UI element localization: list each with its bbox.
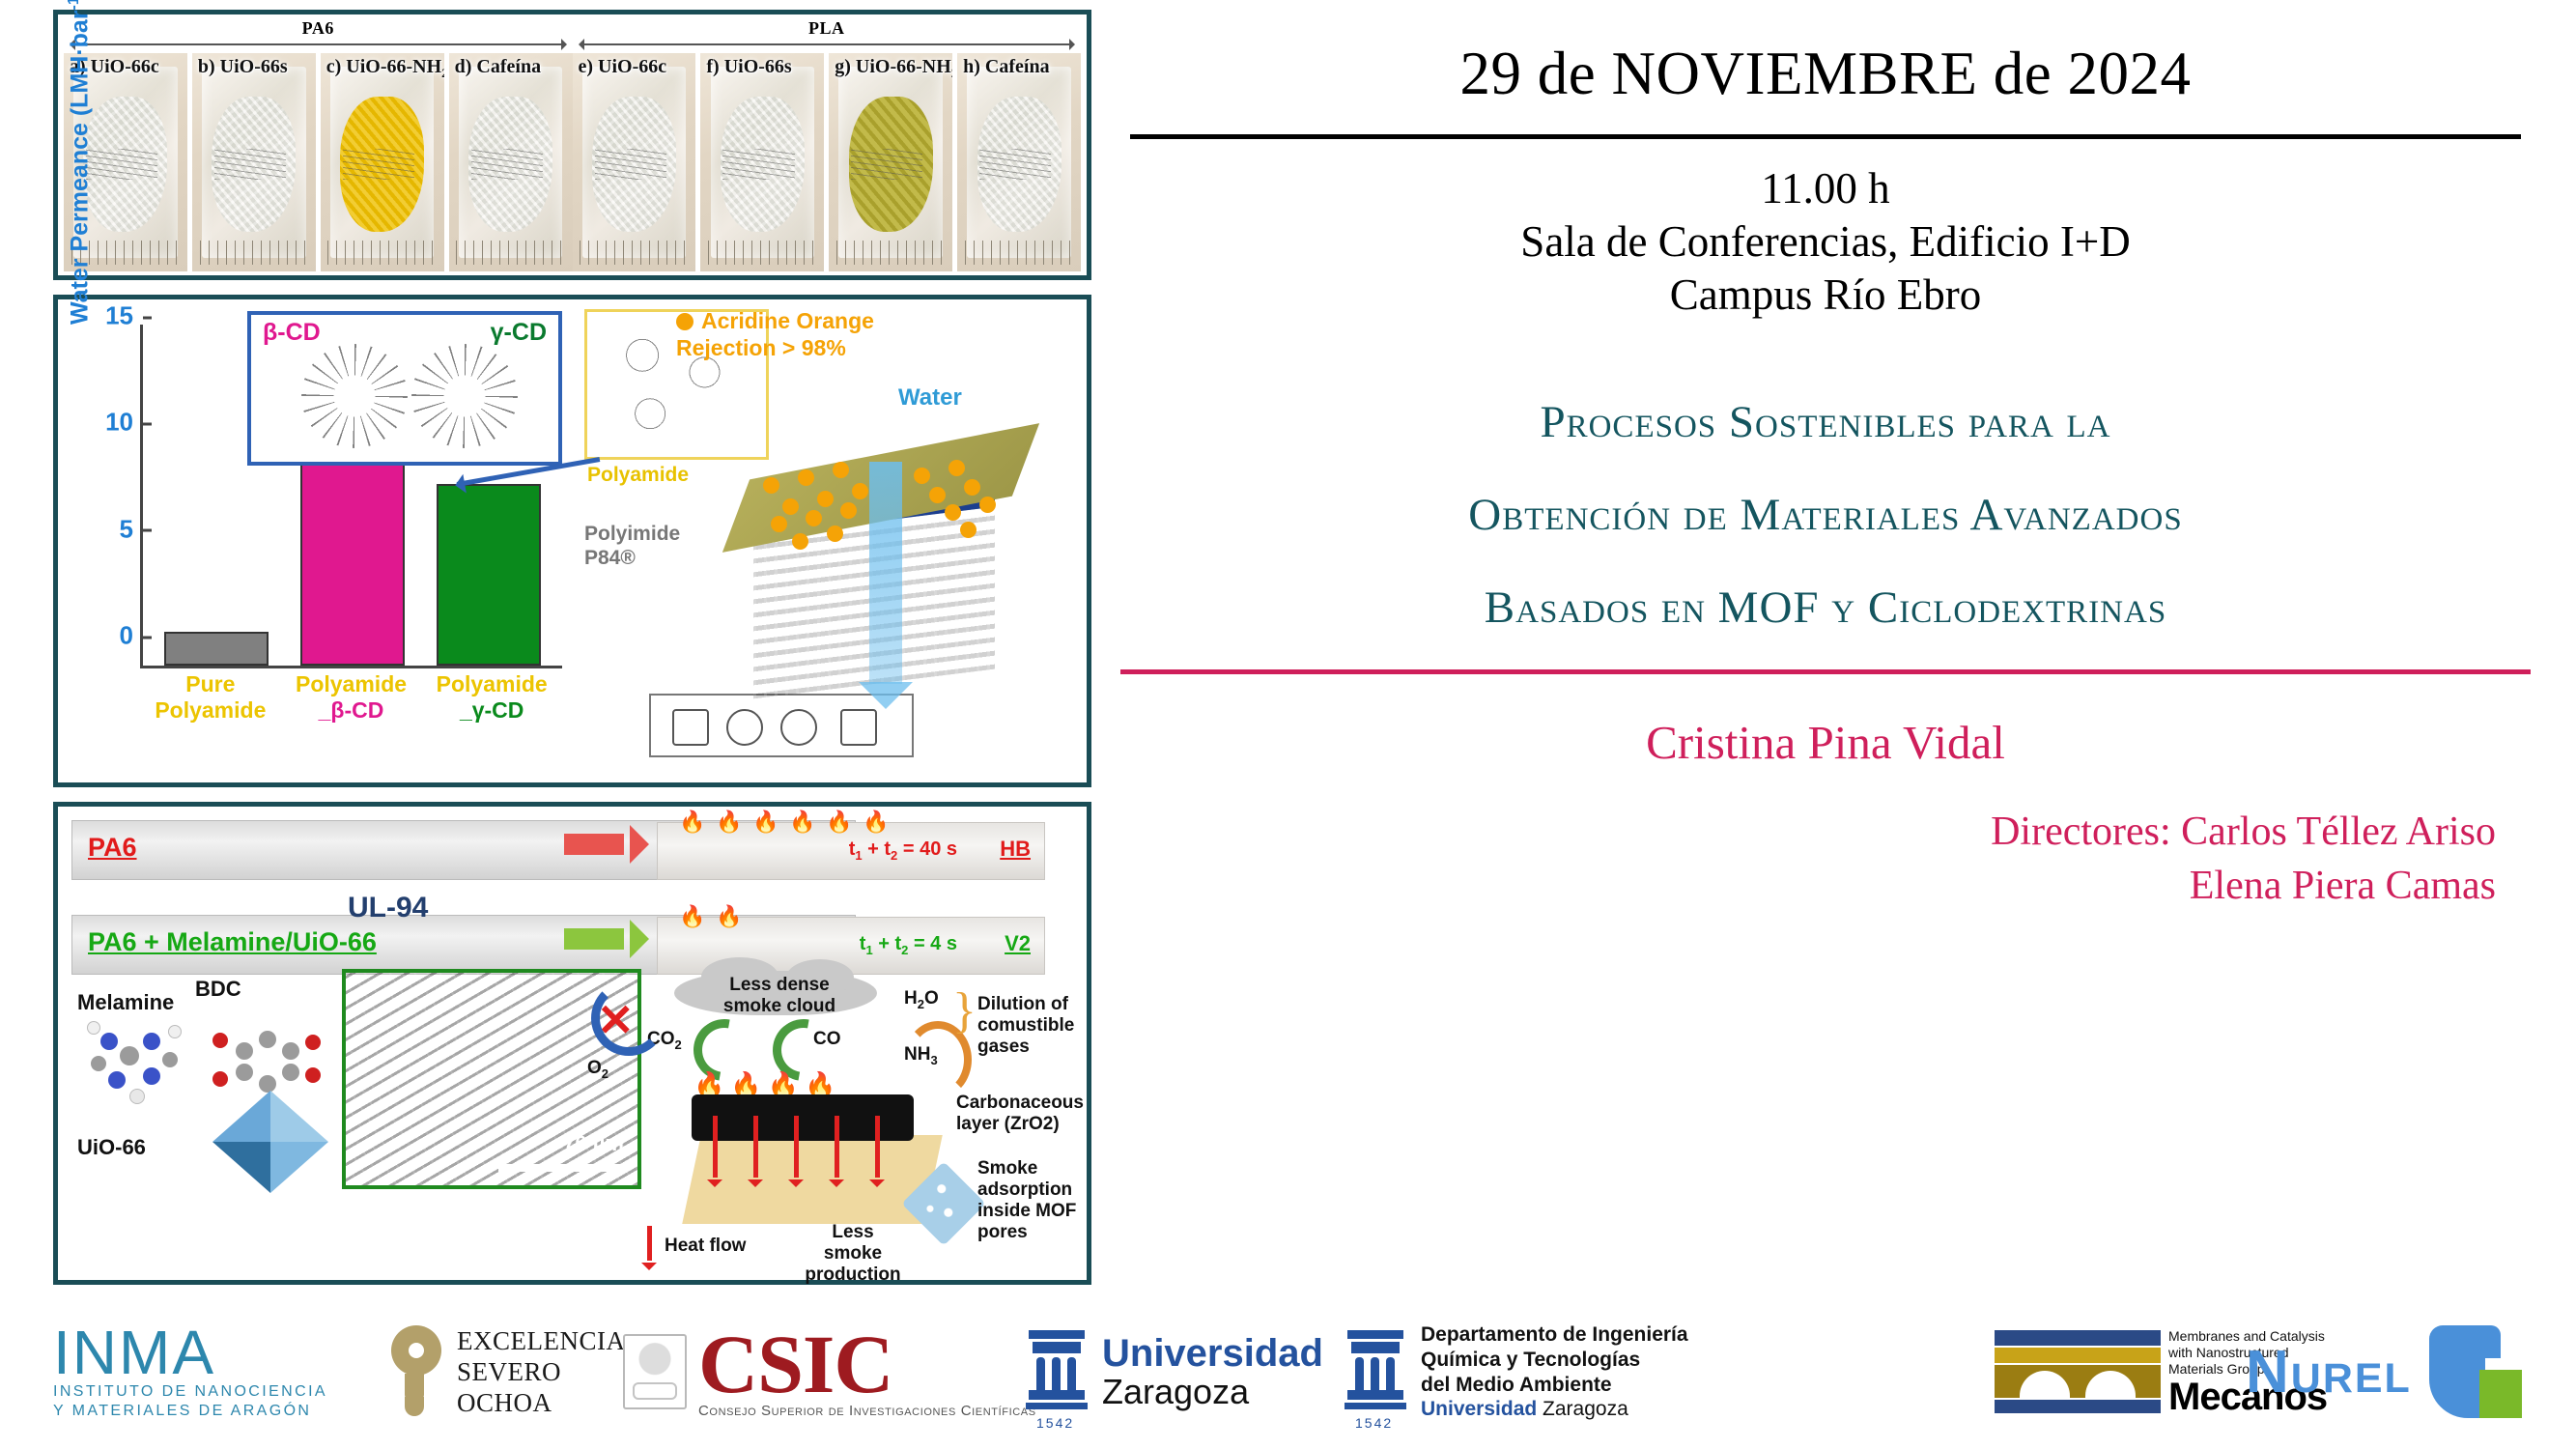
- sample-photo-label: e) UiO-66c: [579, 56, 667, 78]
- sample-photo: e) UiO-66c: [573, 53, 696, 271]
- smoke-cloud-label: Less densesmoke cloud: [697, 975, 862, 1017]
- y-tick: 5: [120, 514, 143, 544]
- scale-bar-icon: [498, 1164, 624, 1172]
- bar-pure-polyamide: [164, 632, 269, 666]
- departamento-university: Universidad Zaragoza: [1421, 1398, 1688, 1421]
- thesis-title-line2: Obtención de Materiales Avanzados: [1120, 469, 2531, 561]
- combustion-mechanism-diagram: Less densesmoke cloud CO2 CO ✕ O2 H2O NH…: [637, 969, 1091, 1278]
- membrane-3d-diagram: [724, 444, 1043, 734]
- thesis-title-line1: Procesos Sostenibles para la: [1120, 376, 2531, 469]
- panel-samples: PA6 a) UiO-66c b) UiO-66s: [53, 10, 1091, 280]
- nh3-label: NH3: [904, 1044, 938, 1071]
- logo-nurel: Nurel: [2246, 1299, 2522, 1444]
- bdc-molecule-icon: [203, 1017, 328, 1094]
- sample-photo-label: f) UiO-66s: [706, 56, 791, 78]
- orange-dot-icon: [676, 313, 694, 330]
- y-axis-label: Water Permeance (LMH·bar-1): [66, 6, 95, 325]
- departamento-line1: Departamento de Ingeniería: [1421, 1322, 1688, 1348]
- x-axis-labels: Pure Polyamide Polyamide _β-CD Polyamide…: [140, 671, 562, 763]
- polyamide-label: Polyamide: [587, 464, 689, 487]
- sample-group-title: PLA: [573, 18, 1082, 38]
- inma-subtitle-line1: INSTITUTO DE NANOCIENCIA: [53, 1382, 327, 1402]
- x-tick-label: Polyamide _β-CD: [281, 671, 422, 763]
- sample-photo-label: g) UiO-66-NH2: [835, 56, 952, 81]
- range-arrow-pa6: [70, 39, 567, 50]
- director-line1: Directores: Carlos Téllez Ariso: [1120, 805, 2496, 859]
- mecanos-bridge-icon: [1995, 1330, 2161, 1413]
- melamine-molecule-icon: [87, 1017, 193, 1104]
- x-tick-label: Pure Polyamide: [140, 671, 281, 763]
- event-time: 11.00 h: [1120, 162, 2531, 215]
- dilution-label: Dilution ofcomustiblegases: [977, 994, 1074, 1058]
- sample-photo-label: c) UiO-66-NH2: [326, 56, 444, 81]
- thesis-announcement-poster: PA6 a) UiO-66c b) UiO-66s: [0, 0, 2576, 1449]
- cyclodextrin-structures-box: β-CD γ-CD: [247, 311, 562, 466]
- melamine-label: Melamine: [77, 990, 174, 1015]
- green-arrow-icon: [564, 928, 624, 950]
- panel-water-permeance: Water Permeance (LMH·bar-1) 15 10 5 0: [53, 295, 1091, 787]
- ul94-test-label: UL-94: [348, 892, 428, 924]
- o2-label: O2: [587, 1058, 609, 1085]
- y-tick: 15: [105, 301, 143, 331]
- divider-black: [1130, 134, 2521, 139]
- logo-row: INMA INSTITUTO DE NANOCIENCIA Y MATERIAL…: [53, 1299, 2526, 1444]
- gamma-cd-label: γ-CD: [491, 319, 547, 347]
- beta-cd-label: β-CD: [263, 319, 321, 347]
- unizar-word1: Universidad: [1102, 1333, 1323, 1374]
- unizar-word2: Zaragoza: [1102, 1374, 1323, 1410]
- logo-csic: CSIC Consejo Superior de Investigaciones…: [623, 1299, 1036, 1444]
- thesis-author: Cristina Pina Vidal: [1120, 715, 2531, 770]
- event-date: 29 de NOVIEMBRE de 2024: [1120, 39, 2531, 109]
- severo-ochoa-text: EXCELENCIA SEVERO OCHOA: [457, 1325, 625, 1418]
- inma-subtitle-line2: Y MATERIALES DE ARAGÓN: [53, 1402, 327, 1421]
- departamento-building-icon: 1542: [1347, 1330, 1403, 1413]
- departamento-line2: Química y Tecnologías: [1421, 1348, 1688, 1373]
- thesis-title: Procesos Sostenibles para la Obtención d…: [1120, 376, 2531, 654]
- beta-cd-molecule-icon: [301, 344, 408, 448]
- acridine-orange-legend: Acridine Orange Rejection > 98%: [676, 307, 966, 361]
- thesis-title-line3: Basados en MOF y Ciclodextrinas: [1120, 561, 2531, 654]
- logo-departamento: 1542 Departamento de Ingeniería Química …: [1347, 1299, 1688, 1444]
- sample-photo: h) Cafeína: [957, 53, 1081, 271]
- sample-photo-label: h) Cafeína: [963, 56, 1049, 78]
- specimen-label: PA6: [88, 833, 137, 863]
- h2o-label: H2O: [904, 988, 939, 1015]
- red-arrow-icon: [564, 834, 624, 855]
- y-tick: 10: [105, 408, 143, 438]
- event-details: 11.00 h Sala de Conferencias, Edificio I…: [1120, 162, 2531, 322]
- o2-arrow-icon: [591, 980, 666, 1056]
- x-tick-label: Polyamide _γ-CD: [421, 671, 562, 763]
- logo-unizar: 1542 Universidad Zaragoza: [1029, 1299, 1323, 1444]
- gamma-cd-molecule-icon: [411, 344, 518, 448]
- unizar-building-icon: 1542: [1029, 1330, 1085, 1413]
- sample-photo: d) Cafeína: [449, 53, 573, 271]
- range-arrow-pla: [579, 39, 1076, 50]
- sample-photo-label: b) UiO-66s: [198, 56, 288, 78]
- logo-severo-ochoa: EXCELENCIA SEVERO OCHOA: [391, 1299, 625, 1444]
- water-flow-arrow-icon: [869, 462, 902, 684]
- sample-group-title: PA6: [64, 18, 573, 38]
- less-smoke-label: Lesssmokeproduction: [800, 1222, 906, 1286]
- event-venue-line1: Sala de Conferencias, Edificio I+D: [1120, 215, 2531, 269]
- nurel-wordmark: Nurel: [2246, 1338, 2412, 1406]
- unizar-year: 1542: [1036, 1415, 1074, 1431]
- severo-ochoa-key-icon: [391, 1325, 441, 1418]
- uio66-octahedron-icon: [203, 1089, 338, 1195]
- csic-seal-icon: [623, 1334, 687, 1409]
- heat-flow-label: Heat flow: [665, 1236, 746, 1257]
- polyimide-label: PolyimideP84®: [584, 522, 680, 570]
- sample-group-pla: PLA e) UiO-66c f) UiO-66s: [573, 18, 1082, 271]
- sample-photo: b) UiO-66s: [192, 53, 316, 271]
- departamento-year: 1542: [1355, 1415, 1393, 1431]
- sample-group-pa6: PA6 a) UiO-66c b) UiO-66s: [64, 18, 573, 271]
- brace-icon: }: [952, 982, 977, 1039]
- sample-photo: f) UiO-66s: [700, 53, 824, 271]
- sample-photo-label: d) Cafeína: [455, 56, 541, 78]
- burn-time: t1 + t2 = 4 s: [860, 933, 957, 957]
- carbonaceous-layer-label: Carbonaceouslayer (ZrO2): [956, 1093, 1084, 1135]
- uio66-label: UiO-66: [77, 1135, 146, 1160]
- departamento-line3: del Medio Ambiente: [1421, 1373, 1688, 1398]
- inma-wordmark: INMA: [53, 1322, 327, 1382]
- bar-polyamide-beta-cd: [300, 452, 405, 666]
- thesis-directors: Directores: Carlos Téllez Ariso Elena Pi…: [1120, 805, 2531, 913]
- logo-inma: INMA INSTITUTO DE NANOCIENCIA Y MATERIAL…: [53, 1299, 327, 1444]
- bdc-label: BDC: [195, 977, 241, 1002]
- divider-pink: [1120, 669, 2531, 674]
- water-label: Water: [898, 384, 962, 412]
- csic-wordmark: CSIC: [698, 1325, 1036, 1403]
- sample-photo: g) UiO-66-NH2: [829, 53, 952, 271]
- scale-bar-label: 70 µm: [563, 1131, 624, 1156]
- burn-result-hb: 🔥🔥 🔥🔥 🔥🔥 t1 + t2 = 40 s HB: [657, 822, 1045, 880]
- sample-photo: c) UiO-66-NH2: [321, 53, 444, 271]
- y-tick: 0: [120, 621, 143, 651]
- figures-column: PA6 a) UiO-66c b) UiO-66s: [53, 10, 1091, 1275]
- ul94-rating: HB: [1000, 837, 1031, 862]
- specimen-label: PA6 + Melamine/UiO-66: [88, 927, 377, 957]
- csic-subtitle: Consejo Superior de Investigaciones Cien…: [698, 1403, 1036, 1419]
- announcement-column: 29 de NOVIEMBRE de 2024 11.00 h Sala de …: [1120, 39, 2531, 1285]
- ul94-rating: V2: [1005, 931, 1031, 956]
- smoke-adsorption-label: Smokeadsorptioninside MOFpores: [977, 1158, 1076, 1243]
- bar-polyamide-gamma-cd: [437, 484, 541, 666]
- burn-time: t1 + t2 = 40 s: [849, 838, 957, 863]
- panel-flame-retardancy: PA6 PROMYDE B30U(referencia) PA6 + Melam…: [53, 802, 1091, 1285]
- event-venue-line2: Campus Río Ebro: [1120, 269, 2531, 322]
- director-line2: Elena Piera Camas: [1120, 859, 2496, 913]
- nurel-mark-icon: [2429, 1325, 2522, 1418]
